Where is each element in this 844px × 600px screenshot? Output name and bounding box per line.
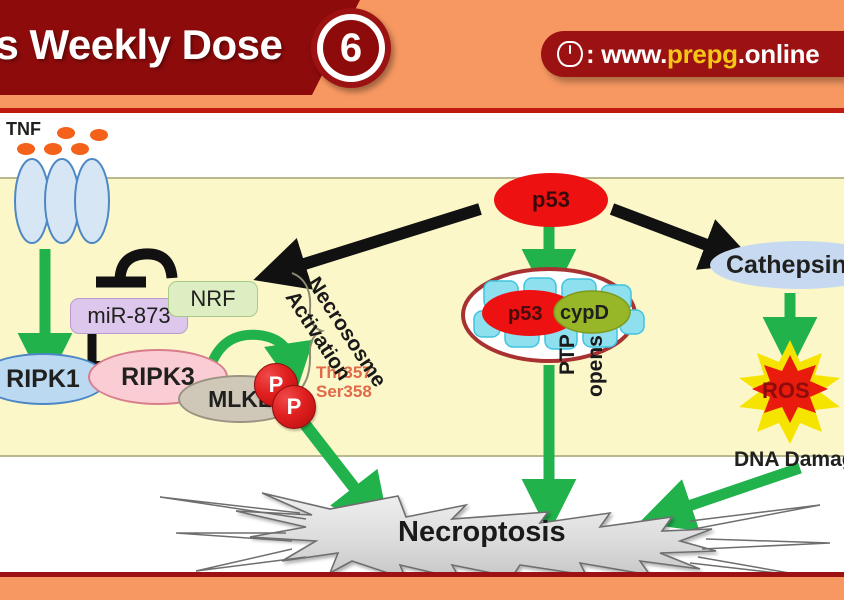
website-url: : www.prepg.online <box>586 39 819 70</box>
p53-node[interactable]: p53 <box>494 173 608 227</box>
ptp-label-line1: PTP <box>556 334 580 375</box>
footer-band <box>0 577 844 600</box>
pathway-svg <box>0 113 844 572</box>
badge-number: 6 <box>323 20 379 76</box>
pathway-figure: TNF RIPK1 RIPK3 MLKL P P Thr357 Ser358 m… <box>0 113 844 572</box>
computer-mouse-icon <box>557 41 583 67</box>
ptp-label-line2: opens <box>584 335 608 397</box>
cypd-label: cypD <box>560 302 609 325</box>
screenshot-root: 's Weekly Dose 6 : www.prepg.online <box>0 0 844 600</box>
necroptosis-label: Necroptosis <box>398 516 566 549</box>
nrf-node[interactable]: NRF <box>168 281 258 317</box>
arrow-dnadamage-to-necroptosis <box>668 468 800 513</box>
website-banner[interactable]: : www.prepg.online <box>541 31 844 77</box>
p53-mito-label: p53 <box>508 303 542 326</box>
phospho-residue-ser: Ser358 <box>316 382 372 402</box>
necroptosis-spikes-right <box>690 505 830 572</box>
tnf-label: TNF <box>6 119 41 140</box>
phospho-site-2: P <box>272 385 316 429</box>
ros-label: ROS <box>762 378 810 404</box>
issue-badge: 6 <box>311 8 391 88</box>
url-prefix: : www. <box>586 39 667 69</box>
url-suffix: .online <box>738 39 820 69</box>
page-title: 's Weekly Dose <box>0 14 316 76</box>
url-highlight: prepg <box>667 39 738 69</box>
dna-damage-label: DNA Damage <box>734 448 844 472</box>
tnf-receptor-trimer <box>15 159 109 243</box>
